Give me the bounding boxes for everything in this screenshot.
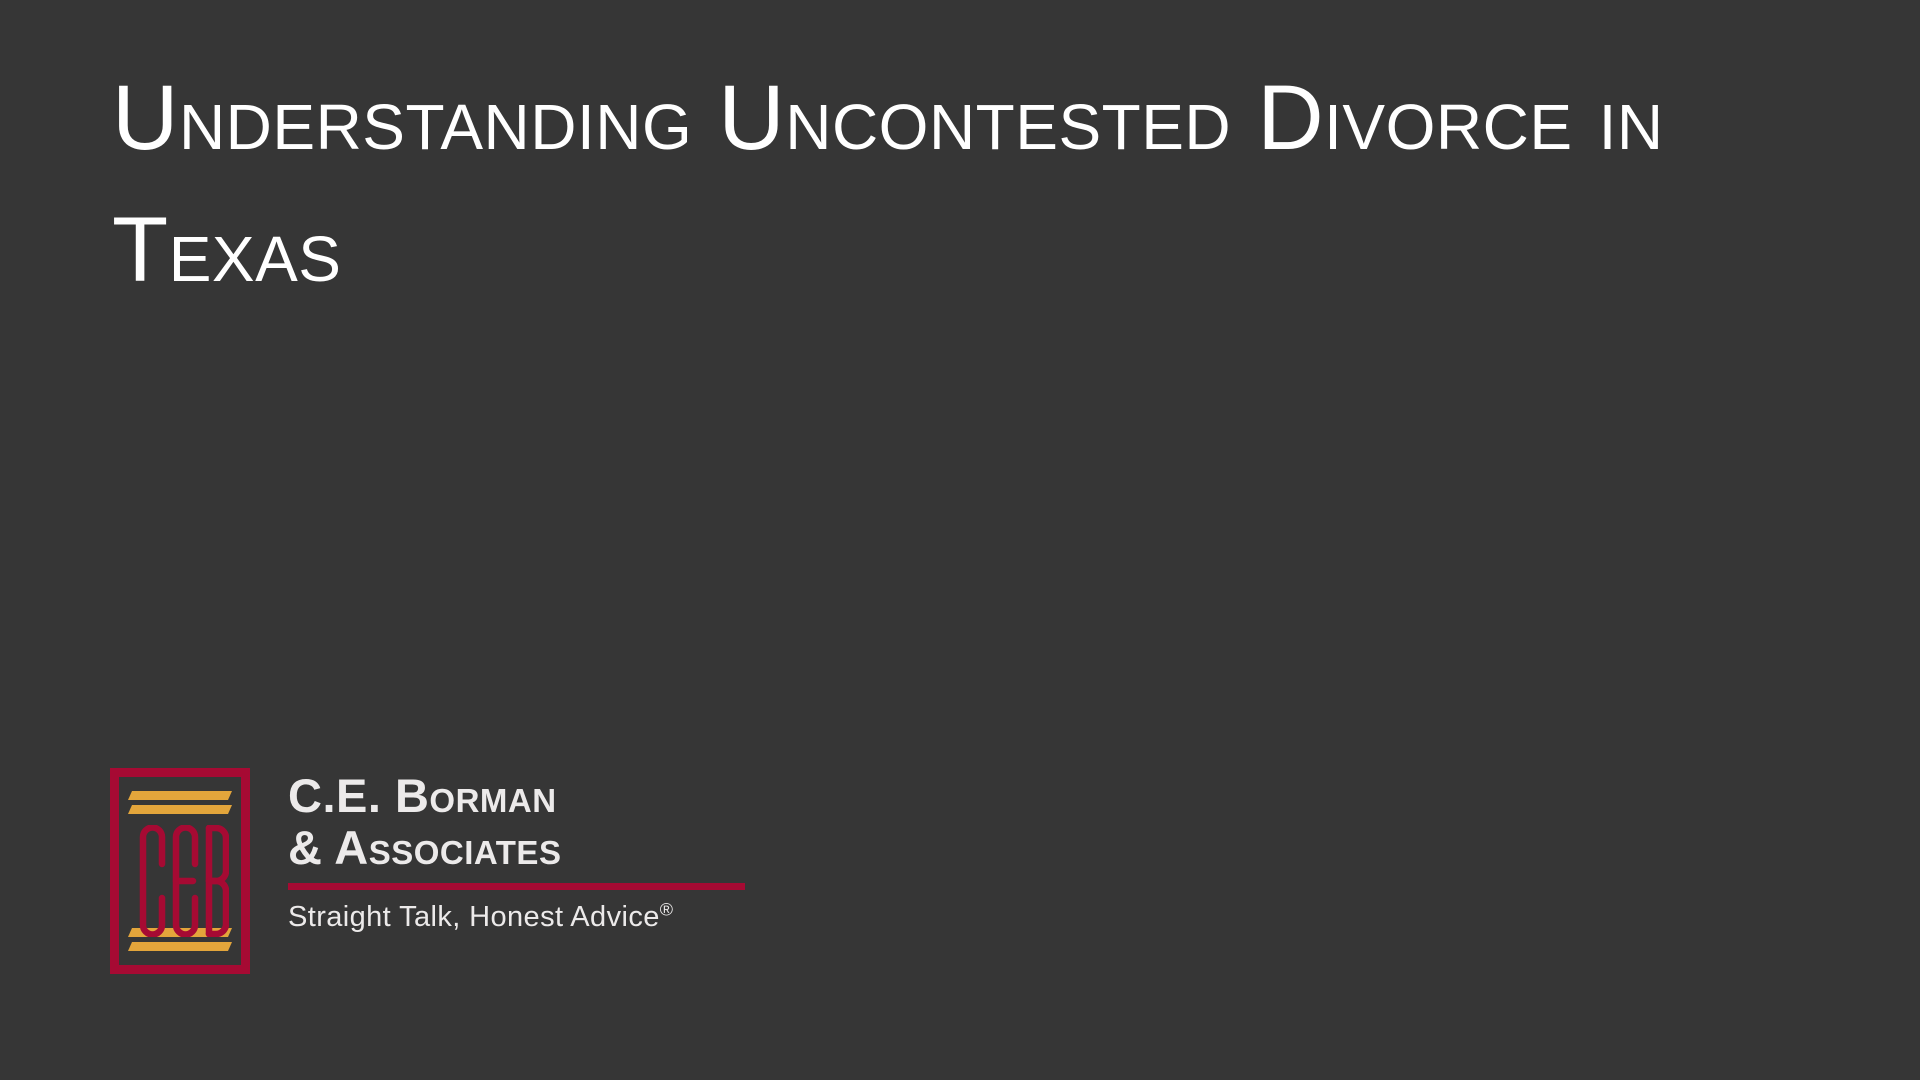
logo-inner-frame xyxy=(125,783,235,959)
brand-tagline-text: Straight Talk, Honest Advice xyxy=(288,901,660,933)
registered-trademark-mark: ® xyxy=(660,899,674,919)
column-capital-bar-bottom xyxy=(128,805,232,814)
ceb-monogram-icon xyxy=(131,825,229,937)
presentation-slide: Understanding Uncontested Divorce in Tex… xyxy=(0,0,1920,1080)
brand-divider-rule xyxy=(288,883,745,890)
column-base-bar-bottom xyxy=(128,942,232,951)
brand-logo-lockup: C.E. Borman & Associates Straight Talk, … xyxy=(110,768,745,974)
brand-wordmark: C.E. Borman & Associates Straight Talk, … xyxy=(288,768,745,934)
ceb-column-logo-icon xyxy=(110,768,250,974)
column-capital-bar-top xyxy=(128,791,232,800)
title-block: Understanding Uncontested Divorce in Tex… xyxy=(112,52,1792,316)
brand-tagline: Straight Talk, Honest Advice® xyxy=(288,900,745,934)
page-title: Understanding Uncontested Divorce in Tex… xyxy=(112,52,1792,316)
firm-name-line-1: C.E. Borman xyxy=(288,770,745,822)
firm-name-line-2: & Associates xyxy=(288,822,745,874)
